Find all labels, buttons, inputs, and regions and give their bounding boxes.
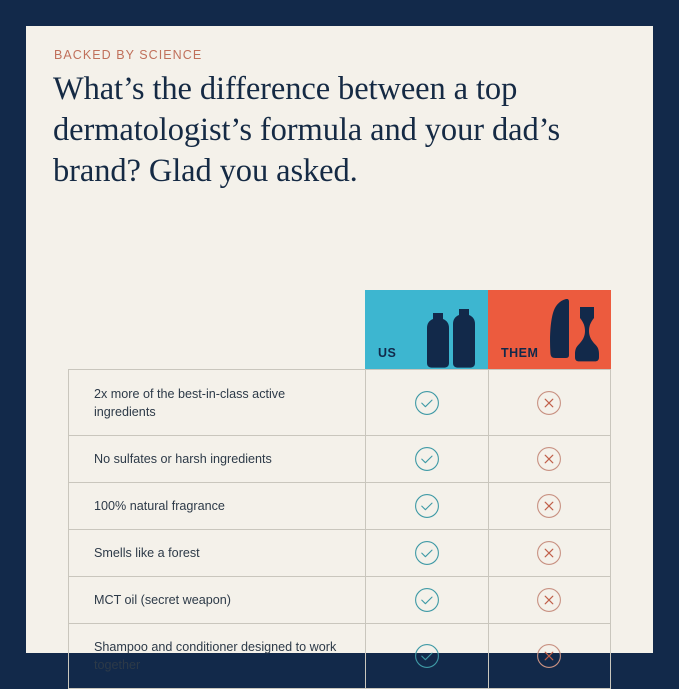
cross-circle-icon [536, 446, 562, 472]
bottles-upright-icon [415, 307, 479, 369]
cross-circle-icon [536, 643, 562, 669]
eyebrow-label: BACKED BY SCIENCE [54, 48, 202, 62]
comparison-card: BACKED BY SCIENCE What’s the difference … [26, 26, 653, 653]
us-check-cell [365, 624, 488, 688]
them-cross-cell [488, 436, 611, 482]
check-circle-icon [414, 643, 440, 669]
column-header-us: US [365, 290, 488, 369]
them-cross-cell [488, 624, 611, 688]
feature-label: 2x more of the best-in-class active ingr… [69, 370, 365, 435]
feature-label: 100% natural fragrance [69, 483, 365, 529]
check-circle-icon [414, 390, 440, 416]
table-row: Smells like a forest [68, 529, 611, 576]
comparison-table: US THEM 2x more of the best-in-class act… [68, 290, 611, 689]
them-cross-cell [488, 370, 611, 435]
us-check-cell [365, 530, 488, 576]
table-row: MCT oil (secret weapon) [68, 576, 611, 623]
table-row: 2x more of the best-in-class active ingr… [68, 369, 611, 435]
us-check-cell [365, 436, 488, 482]
column-header-us-label: US [378, 346, 396, 360]
cross-circle-icon [536, 390, 562, 416]
us-check-cell [365, 483, 488, 529]
them-cross-cell [488, 483, 611, 529]
us-check-cell [365, 370, 488, 435]
column-header-them: THEM [488, 290, 611, 369]
us-check-cell [365, 577, 488, 623]
page-title: What’s the difference between a top derm… [53, 69, 593, 192]
feature-label: Smells like a forest [69, 530, 365, 576]
table-row: 100% natural fragrance [68, 482, 611, 529]
check-circle-icon [414, 587, 440, 613]
table-header-row: US THEM [365, 290, 611, 369]
cross-circle-icon [536, 540, 562, 566]
feature-label: MCT oil (secret weapon) [69, 577, 365, 623]
feature-label: Shampoo and conditioner designed to work… [69, 624, 365, 688]
check-circle-icon [414, 540, 440, 566]
them-cross-cell [488, 577, 611, 623]
bottles-tapered-icon [536, 299, 602, 369]
column-header-them-label: THEM [501, 346, 538, 360]
table-row: No sulfates or harsh ingredients [68, 435, 611, 482]
cross-circle-icon [536, 587, 562, 613]
check-circle-icon [414, 446, 440, 472]
table-row: Shampoo and conditioner designed to work… [68, 623, 611, 689]
check-circle-icon [414, 493, 440, 519]
them-cross-cell [488, 530, 611, 576]
cross-circle-icon [536, 493, 562, 519]
feature-label: No sulfates or harsh ingredients [69, 436, 365, 482]
